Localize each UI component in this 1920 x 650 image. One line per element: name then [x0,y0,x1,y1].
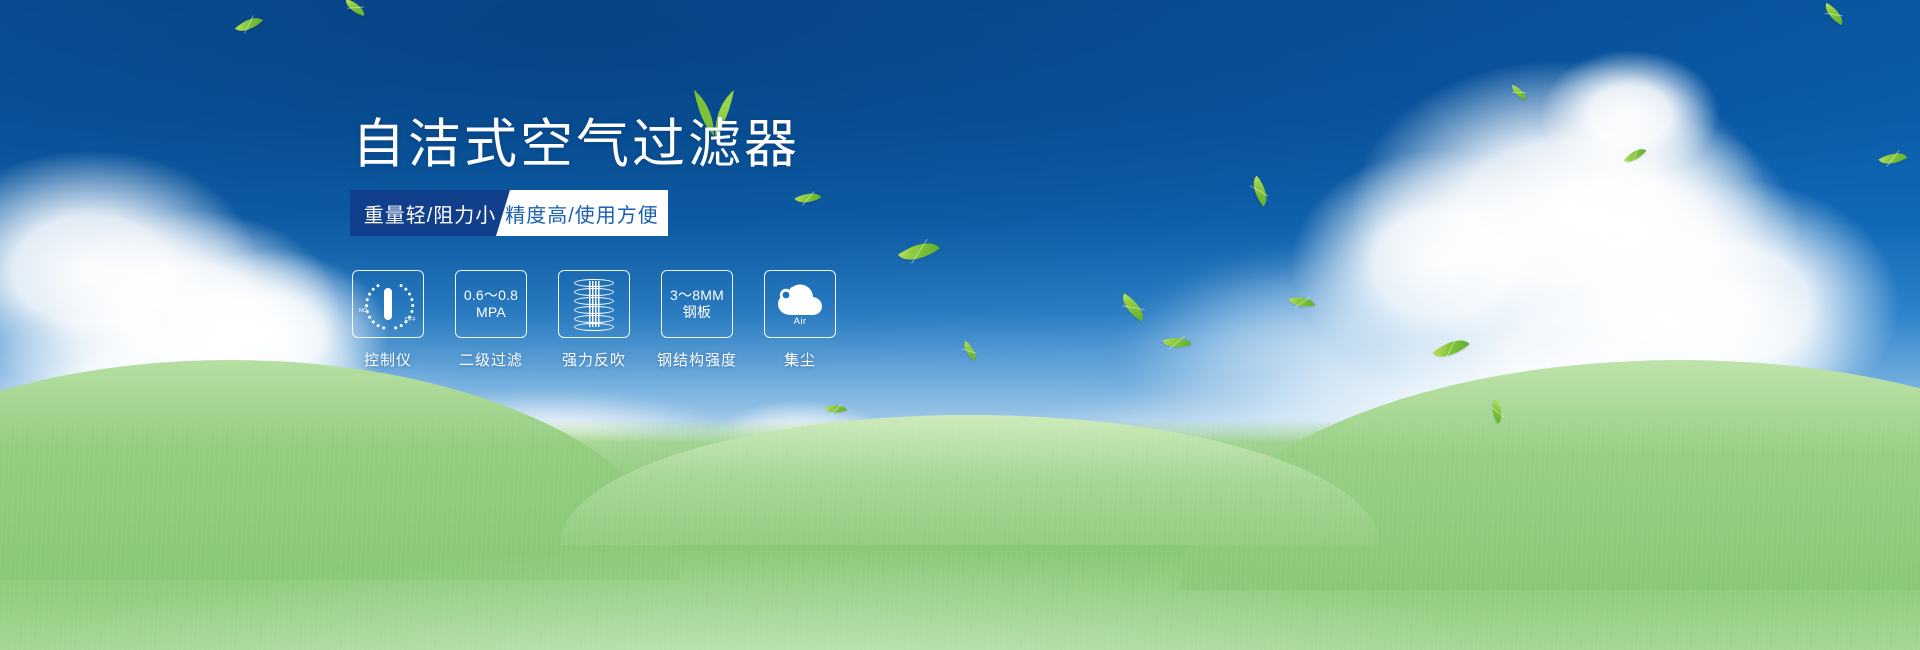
feature-icon-box: 0.6～0.8 MPA [455,270,527,338]
feature-label: 强力反吹 [562,349,626,370]
feature-label: 二级过滤 [459,349,523,370]
steel-plate-text-icon: 3～8MM 钢板 [670,287,724,321]
feature-icon-box: Air [764,270,836,338]
feature-icon-box: 3～8MM 钢板 [661,270,733,338]
feature-item-steel[interactable]: 3～8MM 钢板 钢结构强度 [661,270,733,370]
pressure-text-icon: 0.6～0.8 MPA [464,287,518,321]
banner-stage: 自洁式空气过滤器 重量轻/阻力小 精度高/使用方便 [0,0,1920,650]
feature-item-control[interactable]: NO OFF 控制仪 [352,270,424,370]
air-label: Air [775,316,825,327]
feature-label: 集尘 [784,349,816,370]
feature-label: 钢结构强度 [657,349,737,370]
dial-needle [384,288,393,320]
dial-label-off: OFF [405,317,416,323]
feature-item-blowback[interactable]: 强力反吹 [558,270,630,370]
air-cloud-icon: Air [775,282,825,326]
feature-list: NO OFF 控制仪 0.6～0.8 MPA 二级过滤 [352,270,836,370]
feature-icon-box [558,270,630,338]
coil-blowback-icon [572,279,616,329]
control-dial-icon: NO OFF [360,278,416,330]
status-badge-primary: 重量轻/阻力小 [350,190,510,236]
feature-label: 控制仪 [364,349,412,370]
banner-content: 自洁式空气过滤器 重量轻/阻力小 精度高/使用方便 [0,0,1920,650]
dial-label-no: NO [359,308,367,314]
feature-item-filtration[interactable]: 0.6～0.8 MPA 二级过滤 [455,270,527,370]
feature-icon-box: NO OFF [352,270,424,338]
feature-item-dust[interactable]: Air 集尘 [764,270,836,370]
status-badge-secondary: 精度高/使用方便 [496,190,668,236]
page-title: 自洁式空气过滤器 [352,118,800,171]
badge-group: 重量轻/阻力小 精度高/使用方便 [350,190,668,236]
